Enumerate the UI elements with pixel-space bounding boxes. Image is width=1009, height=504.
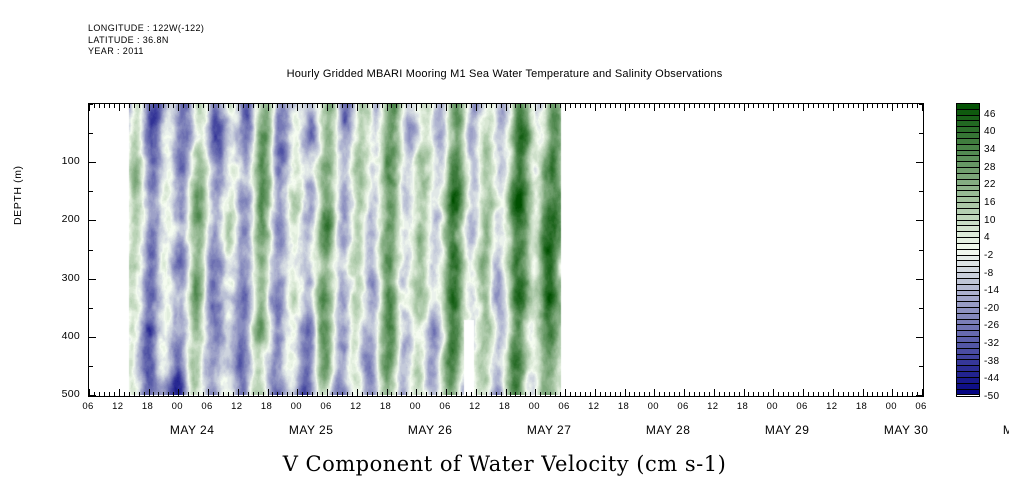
y-axis-tick [89,279,96,280]
x-axis-tick [843,104,844,108]
chart-caption: V Component of Water Velocity (cm s-1) [0,452,1009,476]
x-axis-tick [342,392,343,396]
x-axis-tick [109,104,110,108]
x-axis-tick [302,392,303,396]
x-axis-tick [357,389,358,396]
station-metadata: LONGITUDE : 122W(-122) LATITUDE : 36.8N … [88,23,204,58]
x-axis-tick [744,389,745,396]
x-axis-tick [813,392,814,396]
x-axis-tick [367,104,368,108]
x-axis-tick [620,392,621,396]
x-axis-hour-label: 06 [549,401,579,412]
x-axis-tick [912,104,913,108]
x-axis-tick [823,104,824,108]
x-axis-tick [272,392,273,396]
x-axis-tick [783,392,784,396]
x-axis-tick [357,104,358,111]
colorbar-tick-label: -2 [984,250,994,261]
x-axis-tick [649,104,650,108]
x-axis-tick [198,392,199,396]
x-axis-tick [149,104,150,111]
x-axis-tick [863,104,864,111]
x-axis-tick [183,392,184,396]
x-axis-tick [828,104,829,108]
x-axis-tick [109,392,110,396]
x-axis-hour-label: 00 [162,401,192,412]
x-axis-tick [396,392,397,396]
x-axis-hour-label: 00 [519,401,549,412]
x-axis-hour-label: 12 [698,401,728,412]
x-axis-tick [763,392,764,396]
colorbar-tick-label: -20 [984,303,999,314]
x-axis-tick [768,104,769,108]
x-axis-tick [778,104,779,108]
x-axis-tick [441,104,442,108]
colorbar-tick-label: 22 [984,179,996,190]
heatmap-canvas [89,104,922,395]
x-axis-tick [580,104,581,108]
x-axis-tick [317,104,318,108]
y-axis-tick [916,162,923,163]
x-axis-hour-label: 00 [400,401,430,412]
heatmap-plot-area [88,103,924,397]
x-axis-tick [451,104,452,108]
x-axis-tick [322,392,323,396]
x-axis-tick [401,104,402,108]
x-axis-tick [173,104,174,108]
x-axis-tick [739,392,740,396]
x-axis-tick [411,392,412,396]
x-axis-tick [833,104,834,111]
y-axis-tick [916,279,923,280]
x-axis-tick [610,392,611,396]
x-axis-tick [853,104,854,108]
x-axis-tick [421,392,422,396]
x-axis-tick [104,392,105,396]
x-axis-hour-label: 06 [192,401,222,412]
x-axis-hour-label: 12 [341,401,371,412]
x-axis-tick [744,104,745,111]
x-axis-tick [352,104,353,108]
x-axis-tick [560,392,561,396]
x-axis-tick [570,104,571,108]
x-axis-tick [659,104,660,108]
x-axis-tick [431,392,432,396]
x-axis-tick [644,392,645,396]
x-axis-tick [352,392,353,396]
x-axis-tick [377,392,378,396]
x-axis-tick [287,392,288,396]
x-axis-tick [510,392,511,396]
x-axis-tick [679,104,680,108]
x-axis-tick [233,392,234,396]
x-axis-tick [709,104,710,108]
x-axis-tick [337,392,338,396]
x-axis-tick [263,392,264,396]
x-axis-tick [907,392,908,396]
x-axis-tick [89,104,90,111]
x-axis-tick [208,389,209,396]
x-axis-tick [550,104,551,108]
y-axis-tick [89,250,93,251]
x-axis-tick [808,104,809,108]
x-axis-tick [312,104,313,108]
x-axis-tick [739,104,740,108]
x-axis-tick [496,104,497,108]
x-axis-tick [153,104,154,108]
x-axis-tick [466,104,467,108]
x-axis-tick [198,104,199,108]
y-axis-tick [916,395,923,396]
x-axis-tick [382,104,383,108]
x-axis-tick [372,392,373,396]
x-axis-hour-label: 06 [430,401,460,412]
x-axis-day-label: MAY 24 [132,423,252,437]
x-axis-tick [773,389,774,396]
x-axis-tick [327,104,328,111]
x-axis-tick [258,392,259,396]
x-axis-hour-label: 18 [609,401,639,412]
x-axis-tick [605,392,606,396]
x-axis-tick [605,104,606,108]
x-axis-tick [372,104,373,108]
x-axis-day-label: MAY 31 [965,423,1009,437]
x-axis-tick [203,104,204,108]
x-axis-tick [917,104,918,108]
x-axis-tick [922,104,923,111]
x-axis-tick [748,392,749,396]
x-axis-tick [848,392,849,396]
x-axis-tick [119,104,120,111]
x-axis-tick [506,104,507,111]
x-axis-tick [555,392,556,396]
colorbar [956,103,980,397]
x-axis-tick [114,104,115,108]
x-axis-tick [248,392,249,396]
x-axis-hour-label: 06 [787,401,817,412]
x-axis-tick [659,392,660,396]
x-axis-tick [139,392,140,396]
x-axis-tick [867,392,868,396]
x-axis-tick [565,389,566,396]
x-axis-tick [887,392,888,396]
x-axis-tick [545,392,546,396]
colorbar-tick-label: 34 [984,144,996,155]
x-axis-tick [575,392,576,396]
x-axis-day-label: MAY 29 [727,423,847,437]
x-axis-tick [530,392,531,396]
x-axis-tick [882,104,883,108]
y-axis-depth-label: 100 [40,155,80,167]
x-axis-tick [793,392,794,396]
y-axis-tick [919,308,923,309]
x-axis-tick [763,104,764,108]
x-axis-tick [129,104,130,108]
x-axis-tick [401,392,402,396]
x-axis-tick [248,104,249,108]
colorbar-tick-label: 10 [984,215,996,226]
x-axis-tick [848,104,849,108]
x-axis-tick [268,104,269,111]
x-axis-tick [838,104,839,108]
y-axis-tick [916,337,923,338]
x-axis-hour-label: 00 [281,401,311,412]
x-axis-tick [694,392,695,396]
y-axis-tick [89,220,96,221]
x-axis-tick [158,104,159,108]
x-axis-tick [223,104,224,108]
x-axis-tick [867,104,868,108]
x-axis-tick [272,104,273,108]
x-axis-tick [734,392,735,396]
colorbar-tick-label: -44 [984,373,999,384]
x-axis-hour-label: 00 [638,401,668,412]
x-axis-tick [263,104,264,108]
x-axis-tick [277,392,278,396]
x-axis-tick [163,392,164,396]
x-axis-tick [629,392,630,396]
x-axis-tick [426,392,427,396]
x-axis-tick [515,392,516,396]
x-axis-tick [689,392,690,396]
x-axis-tick [600,392,601,396]
x-axis-tick [664,392,665,396]
x-axis-tick [575,104,576,108]
x-axis-tick [496,392,497,396]
y-axis-depth-label: 500 [40,388,80,400]
x-axis-tick [426,104,427,108]
x-axis-tick [540,392,541,396]
x-axis-tick [669,104,670,108]
x-axis-tick [610,104,611,108]
x-axis-tick [689,104,690,108]
x-axis-tick [724,392,725,396]
x-axis-tick [625,389,626,396]
x-axis-tick [436,392,437,396]
x-axis-tick [813,104,814,108]
x-axis-tick [391,392,392,396]
x-axis-tick [238,389,239,396]
x-axis-tick [233,104,234,108]
x-axis-tick [902,392,903,396]
x-axis-tick [719,104,720,108]
x-axis-tick [525,104,526,108]
x-axis-tick [634,392,635,396]
x-axis-tick [218,392,219,396]
colorbar-tick-label: -8 [984,268,994,279]
x-axis-tick [312,392,313,396]
x-axis-tick [704,104,705,108]
x-axis-tick [615,392,616,396]
x-axis-tick [481,392,482,396]
x-axis-tick [808,392,809,396]
x-axis-day-label: MAY 26 [370,423,490,437]
x-axis-tick [119,389,120,396]
x-axis-tick [406,392,407,396]
x-axis-tick [332,392,333,396]
x-axis-tick [466,392,467,396]
y-axis-tick [89,308,93,309]
x-axis-tick [307,392,308,396]
x-axis-tick [377,104,378,108]
x-axis-tick [748,104,749,108]
x-axis-tick [292,392,293,396]
y-axis-tick [89,395,96,396]
x-axis-tick [421,104,422,108]
x-axis-tick [282,104,283,108]
x-axis-hour-label: 18 [490,401,520,412]
x-axis-tick [396,104,397,108]
x-axis-tick [446,389,447,396]
x-axis-tick [902,104,903,108]
chart-title: Hourly Gridded MBARI Mooring M1 Sea Wate… [0,68,1009,80]
x-axis-tick [258,104,259,108]
x-axis-tick [302,104,303,108]
x-axis-day-label: MAY 28 [608,423,728,437]
y-axis-tick [89,104,93,105]
x-axis-tick [540,104,541,108]
x-axis-tick [595,389,596,396]
x-axis-tick [203,392,204,396]
x-axis-tick [595,104,596,111]
y-axis-tick [919,366,923,367]
x-axis-tick [798,392,799,396]
x-axis-tick [858,104,859,108]
x-axis-tick [863,389,864,396]
x-axis-tick [144,104,145,108]
x-axis-tick [387,389,388,396]
x-axis-tick [347,104,348,108]
x-axis-tick [783,104,784,108]
x-axis-hour-label: 12 [103,401,133,412]
x-axis-tick [709,392,710,396]
x-axis-tick [367,392,368,396]
x-axis-tick [411,104,412,108]
x-axis-tick [753,104,754,108]
x-axis-hour-label: 12 [579,401,609,412]
x-axis-tick [699,104,700,108]
x-axis-tick [887,104,888,108]
x-axis-tick [153,392,154,396]
x-axis-tick [872,104,873,108]
x-axis-tick [178,104,179,111]
x-axis-tick [491,392,492,396]
x-axis-tick [654,389,655,396]
y-axis-tick [89,162,96,163]
x-axis-tick [416,389,417,396]
colorbar-tick-label: 4 [984,232,990,243]
x-axis-tick [268,389,269,396]
x-axis-tick [644,104,645,108]
y-axis-title: DEPTH (m) [12,165,24,225]
x-axis-tick [818,392,819,396]
x-axis-tick [560,104,561,108]
x-axis-tick [520,104,521,108]
year-text: YEAR : 2011 [88,46,204,58]
x-axis-hour-label: 00 [757,401,787,412]
y-axis-tick [89,337,96,338]
x-axis-tick [585,104,586,108]
y-axis-tick [919,133,923,134]
x-axis-hour-label: 18 [133,401,163,412]
x-axis-hour-label: 12 [460,401,490,412]
x-axis-tick [649,392,650,396]
x-axis-day-label: MAY 27 [489,423,609,437]
x-axis-tick [134,392,135,396]
x-axis-tick [481,104,482,108]
x-axis-tick [94,104,95,108]
x-axis-tick [223,392,224,396]
x-axis-tick [178,389,179,396]
x-axis-tick [798,104,799,108]
x-axis-tick [317,392,318,396]
x-axis-tick [565,104,566,111]
x-axis-tick [441,392,442,396]
x-axis-tick [446,104,447,111]
x-axis-tick [778,392,779,396]
x-axis-tick [758,392,759,396]
x-axis-tick [476,389,477,396]
x-axis-tick [337,104,338,108]
x-axis-tick [491,104,492,108]
x-axis-tick [684,389,685,396]
colorbar-tick-label: -50 [984,391,999,402]
x-axis-tick [476,104,477,111]
x-axis-tick [580,392,581,396]
x-axis-tick [173,392,174,396]
x-axis-tick [501,104,502,108]
x-axis-tick [228,104,229,108]
x-axis-tick [188,104,189,108]
x-axis-tick [882,392,883,396]
x-axis-tick [406,104,407,108]
x-axis-tick [506,389,507,396]
x-axis-tick [99,104,100,108]
x-axis-tick [674,392,675,396]
x-axis-tick [451,392,452,396]
x-axis-tick [243,392,244,396]
x-axis-tick [729,392,730,396]
x-axis-tick [114,392,115,396]
x-axis-hour-label: 12 [817,401,847,412]
x-axis-hour-label: 06 [906,401,936,412]
x-axis-tick [124,104,125,108]
x-axis-tick [436,104,437,108]
colorbar-tick-label: 28 [984,162,996,173]
x-axis-tick [615,104,616,108]
x-axis-tick [471,104,472,108]
x-axis-tick [486,392,487,396]
x-axis-tick [243,104,244,108]
x-axis-tick [907,104,908,108]
x-axis-tick [654,104,655,111]
x-axis-tick [163,104,164,108]
x-axis-tick [669,392,670,396]
x-axis-tick [912,392,913,396]
x-axis-tick [382,392,383,396]
x-axis-tick [838,392,839,396]
y-axis-tick [89,366,93,367]
x-axis-tick [535,389,536,396]
x-axis-tick [555,104,556,108]
x-axis-tick [550,392,551,396]
x-axis-tick [104,104,105,108]
x-axis-hour-label: 06 [73,401,103,412]
x-axis-tick [535,104,536,111]
x-axis-tick [347,392,348,396]
x-axis-tick [297,104,298,111]
x-axis-tick [729,104,730,108]
